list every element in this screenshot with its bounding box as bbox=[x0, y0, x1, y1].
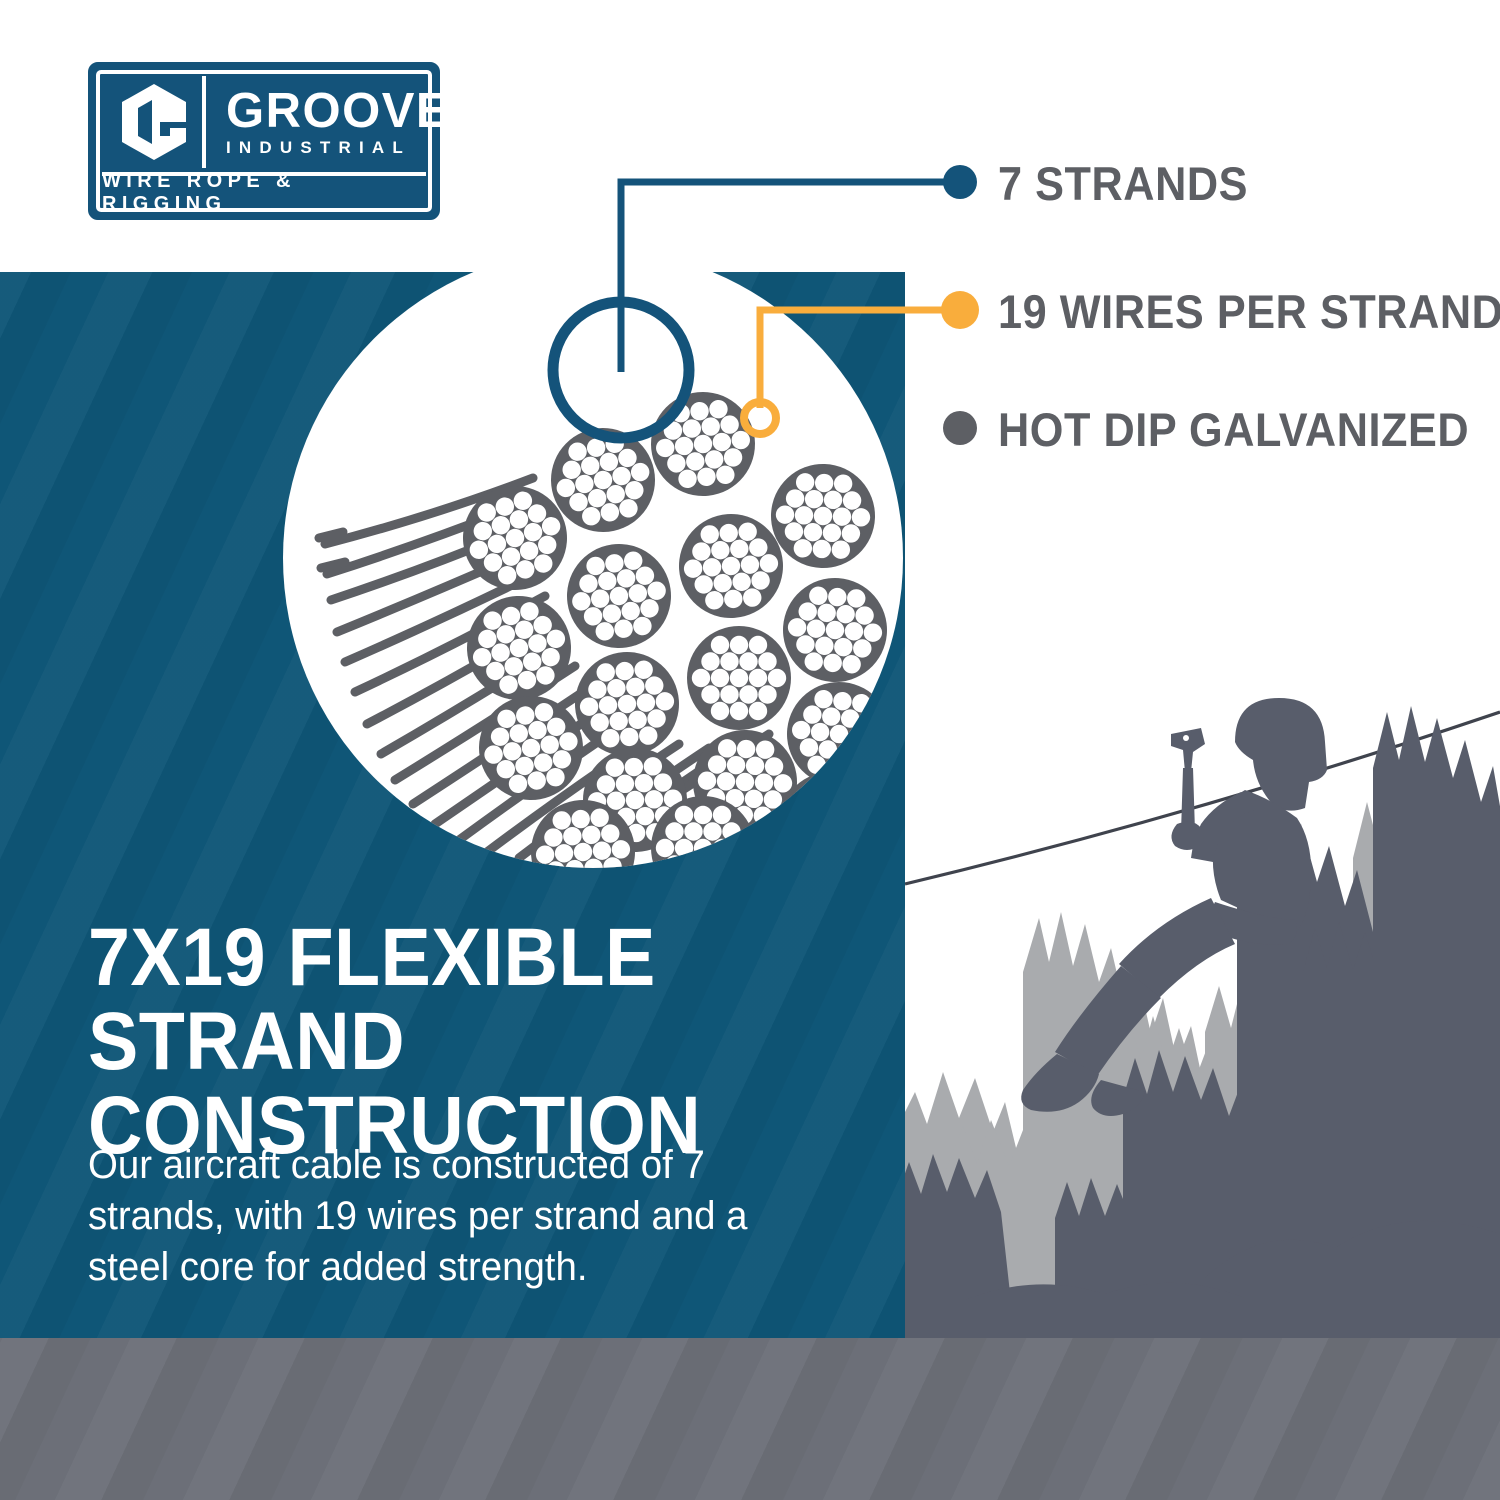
magnifier-ring-blue bbox=[553, 302, 689, 438]
callout-label-wires: 19 WIRES PER STRAND bbox=[998, 288, 1500, 335]
marker-dot-strands bbox=[943, 165, 977, 199]
footer-stripe-texture bbox=[0, 1338, 1500, 1500]
logo-tagline: WIRE ROPE & RIGGING bbox=[102, 170, 426, 216]
body-copy: Our aircraft cable is constructed of 7 s… bbox=[88, 1140, 760, 1293]
logo-top-band: GROOVE INDUSTRIAL bbox=[102, 76, 426, 168]
logo-tagline-row: WIRE ROPE & RIGGING bbox=[102, 180, 426, 206]
callout-label-strands: 7 STRANDS bbox=[998, 160, 1248, 207]
headline-line-1: 7X19 FLEXIBLE bbox=[88, 912, 656, 1003]
cable-illustration-circle bbox=[283, 248, 903, 868]
logo-brand-subtitle: INDUSTRIAL bbox=[226, 138, 450, 158]
wire-rope-cross-section-svg bbox=[283, 248, 903, 868]
footer-gray-band bbox=[0, 1338, 1500, 1500]
logo-brand-name: GROOVE bbox=[226, 86, 450, 136]
callout-label-galvanized: HOT DIP GALVANIZED bbox=[998, 406, 1469, 453]
page-title: 7X19 FLEXIBLE STRAND CONSTRUCTION bbox=[88, 916, 815, 1168]
logo-wordmark: GROOVE INDUSTRIAL bbox=[206, 76, 450, 168]
groove-g-hexagon-icon bbox=[102, 76, 206, 168]
infographic-canvas: 7 STRANDS 19 WIRES PER STRAND HOT DIP GA… bbox=[0, 0, 1500, 1500]
brand-logo[interactable]: GROOVE INDUSTRIAL WIRE ROPE & RIGGING bbox=[88, 62, 440, 220]
